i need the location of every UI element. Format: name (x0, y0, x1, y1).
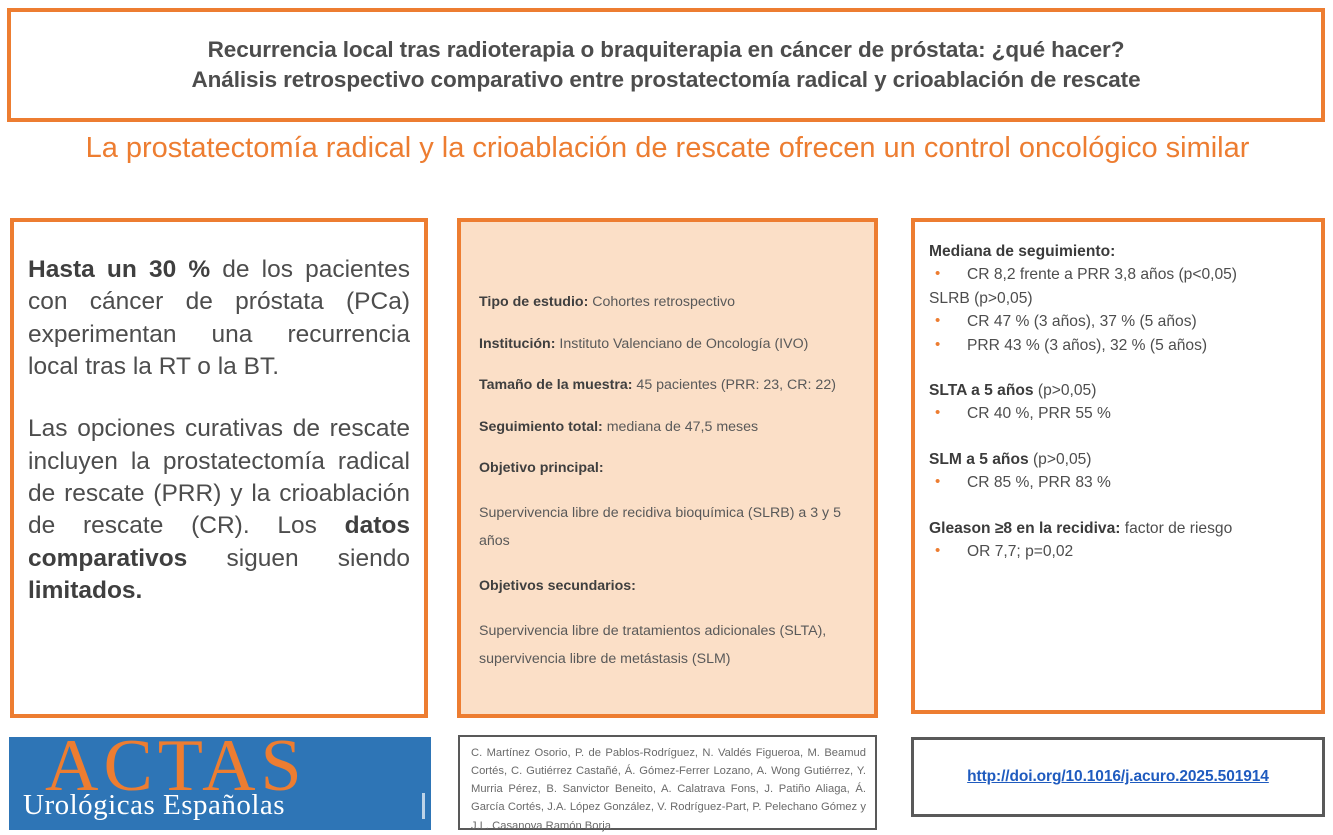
methods-row-value: Supervivencia libre de tratamientos adic… (479, 623, 826, 667)
bullet-dot-icon: • (929, 310, 967, 333)
methods-panel: Tipo de estudio: Cohortes retrospectivo … (457, 218, 878, 718)
authors-list: C. Martínez Osorio, P. de Pablos-Rodrígu… (471, 744, 866, 835)
journal-logo: ACTAS Urológicas Españolas (9, 737, 431, 830)
methods-row-label: Seguimiento total: (479, 419, 603, 435)
title-line-2: Análisis retrospectivo comparativo entre… (192, 65, 1141, 95)
results-bullet: •CR 40 %, PRR 55 % (929, 402, 1311, 425)
methods-row-label: Institución: (479, 336, 555, 352)
methods-row: Institución: Instituto Valenciano de Onc… (479, 334, 856, 355)
background-paragraph-1: Hasta un 30 % de los pacientes con cánce… (28, 254, 410, 383)
methods-row: Tipo de estudio: Cohortes retrospectivo (479, 292, 856, 313)
journal-logo-subtitle: Urológicas Españolas (23, 791, 285, 820)
methods-row: Tamaño de la muestra: 45 pacientes (PRR:… (479, 375, 856, 396)
title-banner: Recurrencia local tras radioterapia o br… (7, 8, 1325, 122)
methods-row: Seguimiento total: mediana de 47,5 meses (479, 417, 856, 438)
results-section-heading: Gleason ≥8 en la recidiva: factor de rie… (929, 517, 1311, 540)
results-bullet: •CR 8,2 frente a PRR 3,8 años (p<0,05) (929, 263, 1311, 286)
methods-row: Supervivencia libre de tratamientos adic… (479, 618, 856, 673)
methods-row: Supervivencia libre de recidiva bioquími… (479, 500, 856, 555)
background-paragraph-2: Las opciones curativas de rescate incluy… (28, 413, 410, 607)
background-panel: Hasta un 30 % de los pacientes con cánce… (10, 218, 428, 718)
bullet-dot-icon: • (929, 334, 967, 357)
methods-row-value: Supervivencia libre de recidiva bioquími… (479, 505, 841, 549)
methods-row-label: Objetivo principal: (479, 460, 604, 476)
methods-row: Objetivo principal: (479, 458, 856, 479)
results-heading-gleason: Gleason ≥8 en la recidiva: (929, 520, 1120, 537)
journal-logo-accent-bar (422, 793, 425, 819)
bullet-dot-icon: • (929, 471, 967, 494)
results-heading-slta: SLTA a 5 años (929, 382, 1034, 399)
results-bullet: •OR 7,7; p=0,02 (929, 540, 1311, 563)
doi-link[interactable]: http://doi.org/10.1016/j.acuro.2025.5019… (967, 768, 1269, 786)
background-emphasis-2: limitados. (28, 577, 142, 604)
authors-box: C. Martínez Osorio, P. de Pablos-Rodrígu… (458, 735, 877, 830)
methods-row: Objetivos secundarios: (479, 576, 856, 597)
results-heading-slta-pvalue: (p>0,05) (1034, 382, 1097, 399)
results-heading-gleason-rest: factor de riesgo (1120, 520, 1232, 537)
results-bullet-text: CR 85 %, PRR 83 % (967, 471, 1111, 494)
bullet-dot-icon: • (929, 540, 967, 563)
results-heading-median-followup: Mediana de seguimiento: (929, 243, 1115, 260)
results-bullet: •CR 85 %, PRR 83 % (929, 471, 1311, 494)
results-bullet: •PRR 43 % (3 años), 32 % (5 años) (929, 334, 1311, 357)
results-heading-slm: SLM a 5 años (929, 451, 1029, 468)
results-bullet-text: CR 47 % (3 años), 37 % (5 años) (967, 310, 1197, 333)
bullet-dot-icon: • (929, 402, 967, 425)
methods-row-value: Instituto Valenciano de Oncología (IVO) (555, 336, 808, 352)
bullet-dot-icon: • (929, 263, 967, 286)
results-bullet-text: CR 40 %, PRR 55 % (967, 402, 1111, 425)
background-stat-highlight: Hasta un 30 % (28, 256, 210, 283)
results-bullet-text: CR 8,2 frente a PRR 3,8 años (p<0,05) (967, 263, 1237, 286)
doi-box: http://doi.org/10.1016/j.acuro.2025.5019… (911, 737, 1325, 817)
methods-row-label: Tipo de estudio: (479, 294, 588, 310)
results-subheading-slrb: SLRB (p>0,05) (929, 287, 1311, 310)
methods-row-value: 45 pacientes (PRR: 23, CR: 22) (632, 377, 835, 393)
section-spacer (929, 426, 1311, 448)
methods-row-label: Tamaño de la muestra: (479, 377, 632, 393)
section-spacer (929, 357, 1311, 379)
title-line-1: Recurrencia local tras radioterapia o br… (192, 35, 1141, 65)
results-section-heading: SLM a 5 años (p>0,05) (929, 448, 1311, 471)
results-section-heading: SLTA a 5 años (p>0,05) (929, 379, 1311, 402)
results-bullet: •CR 47 % (3 años), 37 % (5 años) (929, 310, 1311, 333)
results-heading-slm-pvalue: (p>0,05) (1029, 451, 1092, 468)
methods-row-value: Cohortes retrospectivo (588, 294, 735, 310)
key-finding-subtitle: La prostatectomía radical y la crioablac… (60, 130, 1275, 167)
results-section-heading: Mediana de seguimiento: (929, 240, 1311, 263)
section-spacer (929, 495, 1311, 517)
page-title: Recurrencia local tras radioterapia o br… (178, 35, 1155, 96)
methods-row-value: mediana de 47,5 meses (603, 419, 758, 435)
results-bullet-text: OR 7,7; p=0,02 (967, 540, 1073, 563)
background-paragraph-2-part-2: siguen siendo (187, 545, 410, 572)
results-panel: Mediana de seguimiento: •CR 8,2 frente a… (911, 218, 1325, 714)
results-bullet-text: PRR 43 % (3 años), 32 % (5 años) (967, 334, 1207, 357)
methods-row-label: Objetivos secundarios: (479, 578, 636, 594)
